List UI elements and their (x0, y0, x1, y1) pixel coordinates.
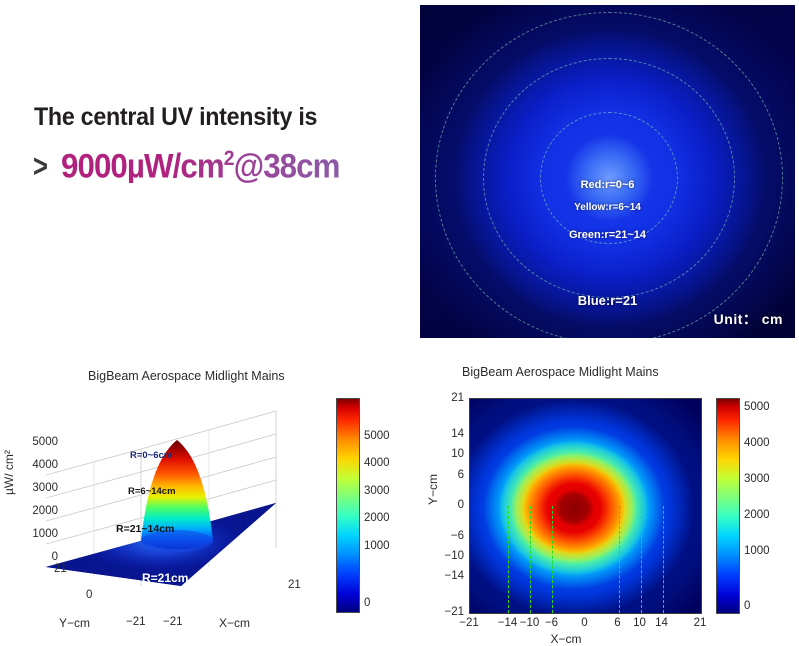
headline-value-superscript: 2 (223, 147, 233, 170)
headline-value-suffix: @38cm (233, 147, 339, 185)
plot2d-title: BigBeam Aerospace Midlight Mains (462, 365, 659, 379)
uv-label-unit: Unit： cm (714, 309, 783, 329)
plot3d-title: BigBeam Aerospace Midlight Mains (88, 369, 285, 383)
plot2d-x-tick-neg14: −14 (498, 617, 518, 629)
plot3d-colorbar (336, 398, 360, 613)
uv-label-blue: Blue:r=21 (578, 293, 638, 308)
greater-than-sign: > (33, 150, 48, 182)
plot3d-scene (46, 391, 316, 591)
plot2d-cbar-tick-0: 0 (744, 600, 750, 612)
plot3d-cbar-tick-4000: 4000 (364, 457, 390, 469)
plot2d-cbar-tick-3000: 3000 (744, 473, 770, 485)
plot2d-field (469, 398, 702, 614)
plot3d-surface-label-yellow: R=6~14cm (128, 486, 176, 497)
plot3d-surface-label-red: R=0~6cm (130, 450, 172, 461)
uv-label-yellow: Yellow:r=6~14 (574, 202, 641, 213)
uv-label-red: Red:r=0~6 (581, 179, 635, 191)
plot2d-x-tick-6: 6 (614, 617, 620, 629)
plot2d-dashline-neg6 (552, 506, 553, 613)
plot3d-surface-label-blue: R=21cm (142, 571, 188, 585)
plot2d-dashline-neg14 (508, 506, 509, 613)
plot3d-cbar-tick-3000: 3000 (364, 485, 390, 497)
plot3d-y-tick-neg21: −21 (126, 616, 146, 628)
plot3d-cbar-tick-5000: 5000 (364, 430, 390, 442)
uv-label-green: Green:r=21~14 (569, 229, 646, 241)
surface-plot-3d: BigBeam Aerospace Midlight Mains µW/ cm²… (0, 345, 420, 642)
plot3d-cbar-tick-0: 0 (364, 597, 370, 609)
headline-value-main: 9000µW/cm (61, 147, 224, 185)
plot2d-dashline-14 (663, 506, 664, 613)
headline-line-2: > 9000µW/cm2@38cm (33, 148, 363, 183)
plot2d-y-tick-neg14: −14 (432, 570, 464, 582)
uv-ring-outer (435, 12, 783, 338)
plot3d-cbar-tick-1000: 1000 (364, 540, 390, 552)
plot2d-cbar-tick-5000: 5000 (744, 401, 770, 413)
plot2d-x-tick-neg6: −6 (545, 617, 558, 629)
plot2d-dashline-neg10 (530, 506, 531, 613)
uv-beam-photograph: Red:r=0~6 Yellow:r=6~14 Green:r=21~14 Bl… (420, 5, 795, 338)
headline-line-1: The central UV intensity is (34, 103, 317, 132)
plot2d-cbar-tick-4000: 4000 (744, 437, 770, 449)
plot2d-cbar-tick-1000: 1000 (744, 545, 770, 557)
plot3d-x-tick-21: 21 (288, 579, 301, 591)
headline-intensity-value: 9000µW/cm2@38cm (61, 148, 340, 183)
plot2d-x-tick-10: 10 (633, 617, 646, 629)
plot2d-y-tick-21: 21 (432, 392, 464, 404)
headline-block: The central UV intensity is > 9000µW/cm2… (0, 0, 420, 345)
plot2d-intensity-field (470, 399, 701, 613)
plot2d-y-tick-0: 0 (432, 499, 464, 511)
plot2d-y-tick-14: 14 (432, 428, 464, 440)
plot2d-y-tick-neg6: −6 (432, 530, 464, 542)
plot3d-surface-label-green: R=21~14cm (116, 523, 174, 535)
plot2d-cbar-tick-2000: 2000 (744, 509, 770, 521)
plot2d-x-tick-neg21: −21 (459, 617, 479, 629)
plot2d-dashline-10 (641, 506, 642, 613)
plot3d-y-tick-21: 21 (54, 563, 67, 575)
plot2d-x-tick-neg10: −10 (520, 617, 540, 629)
heatmap-plot-2d: BigBeam Aerospace Midlight Mains Y−cm X−… (420, 345, 799, 642)
plot2d-x-tick-21: 21 (694, 617, 707, 629)
plot2d-x-tick-0: 0 (581, 617, 587, 629)
plot2d-dashline-6 (619, 506, 620, 613)
plot2d-colorbar (716, 398, 740, 614)
plot2d-y-tick-6: 6 (432, 469, 464, 481)
plot3d-y-axis-label: Y−cm (59, 616, 90, 630)
plot2d-x-tick-14: 14 (655, 617, 668, 629)
plot3d-x-tick-neg21: −21 (163, 616, 183, 628)
plot2d-y-tick-neg21: −21 (432, 606, 464, 618)
plot2d-y-tick-10: 10 (432, 448, 464, 460)
plot3d-y-tick-0: 0 (86, 589, 92, 601)
plot2d-x-axis-label: X−cm (550, 632, 581, 646)
plot3d-cbar-tick-2000: 2000 (364, 512, 390, 524)
plot2d-y-tick-neg10: −10 (432, 550, 464, 562)
plot3d-x-axis-label: X−cm (219, 616, 250, 630)
